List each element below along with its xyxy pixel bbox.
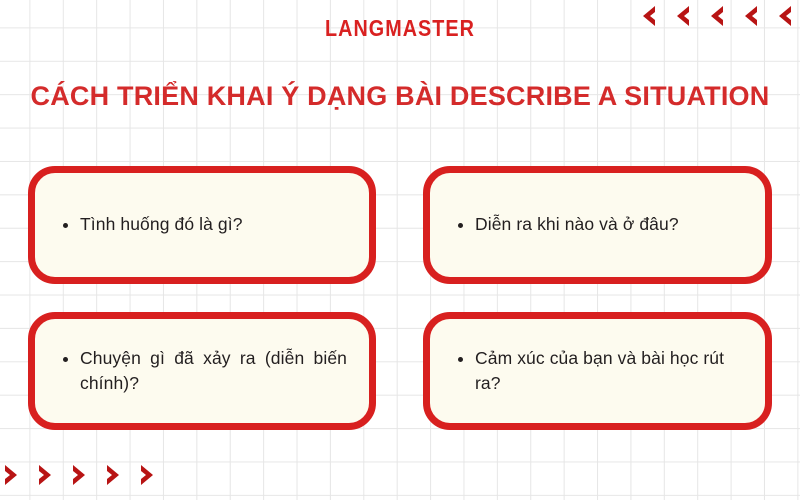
chevron-right-icon [104, 463, 124, 487]
content-box: Diễn ra khi nào và ở đâu? [423, 166, 772, 284]
content-box: Tình huống đó là gì? [28, 166, 376, 284]
bullet-icon [458, 357, 463, 362]
slide-canvas: LANGMASTER CÁCH TRIỂN KHAI Ý DẠNG BÀI DE… [0, 0, 800, 500]
chevron-right-icon [138, 463, 158, 487]
content-box-text: Chuyện gì đã xảy ra (diễn biến chính)? [80, 346, 347, 397]
content-box-inner: Chuyện gì đã xảy ra (diễn biến chính)? [35, 346, 369, 397]
bullet-icon [63, 223, 68, 228]
page-title: CÁCH TRIỂN KHAI Ý DẠNG BÀI DESCRIBE A SI… [0, 82, 800, 112]
decoration-chevrons-bottom-left [2, 463, 158, 487]
content-box-inner: Cảm xúc của bạn và bài học rút ra? [430, 346, 765, 397]
content-box-text: Diễn ra khi nào và ở đâu? [475, 212, 743, 237]
content-box: Chuyện gì đã xảy ra (diễn biến chính)? [28, 312, 376, 430]
chevron-right-icon [36, 463, 56, 487]
chevron-right-icon [70, 463, 90, 487]
content-box-text: Tình huống đó là gì? [80, 212, 347, 237]
content-box-inner: Diễn ra khi nào và ở đâu? [430, 212, 765, 237]
bullet-icon [458, 223, 463, 228]
chevron-left-icon [774, 4, 794, 28]
brand-logo: LANGMASTER [56, 17, 744, 40]
content-box: Cảm xúc của bạn và bài học rút ra? [423, 312, 772, 430]
content-box-inner: Tình huống đó là gì? [35, 212, 369, 237]
content-box-text: Cảm xúc của bạn và bài học rút ra? [475, 346, 743, 397]
bullet-icon [63, 357, 68, 362]
chevron-right-icon [2, 463, 22, 487]
